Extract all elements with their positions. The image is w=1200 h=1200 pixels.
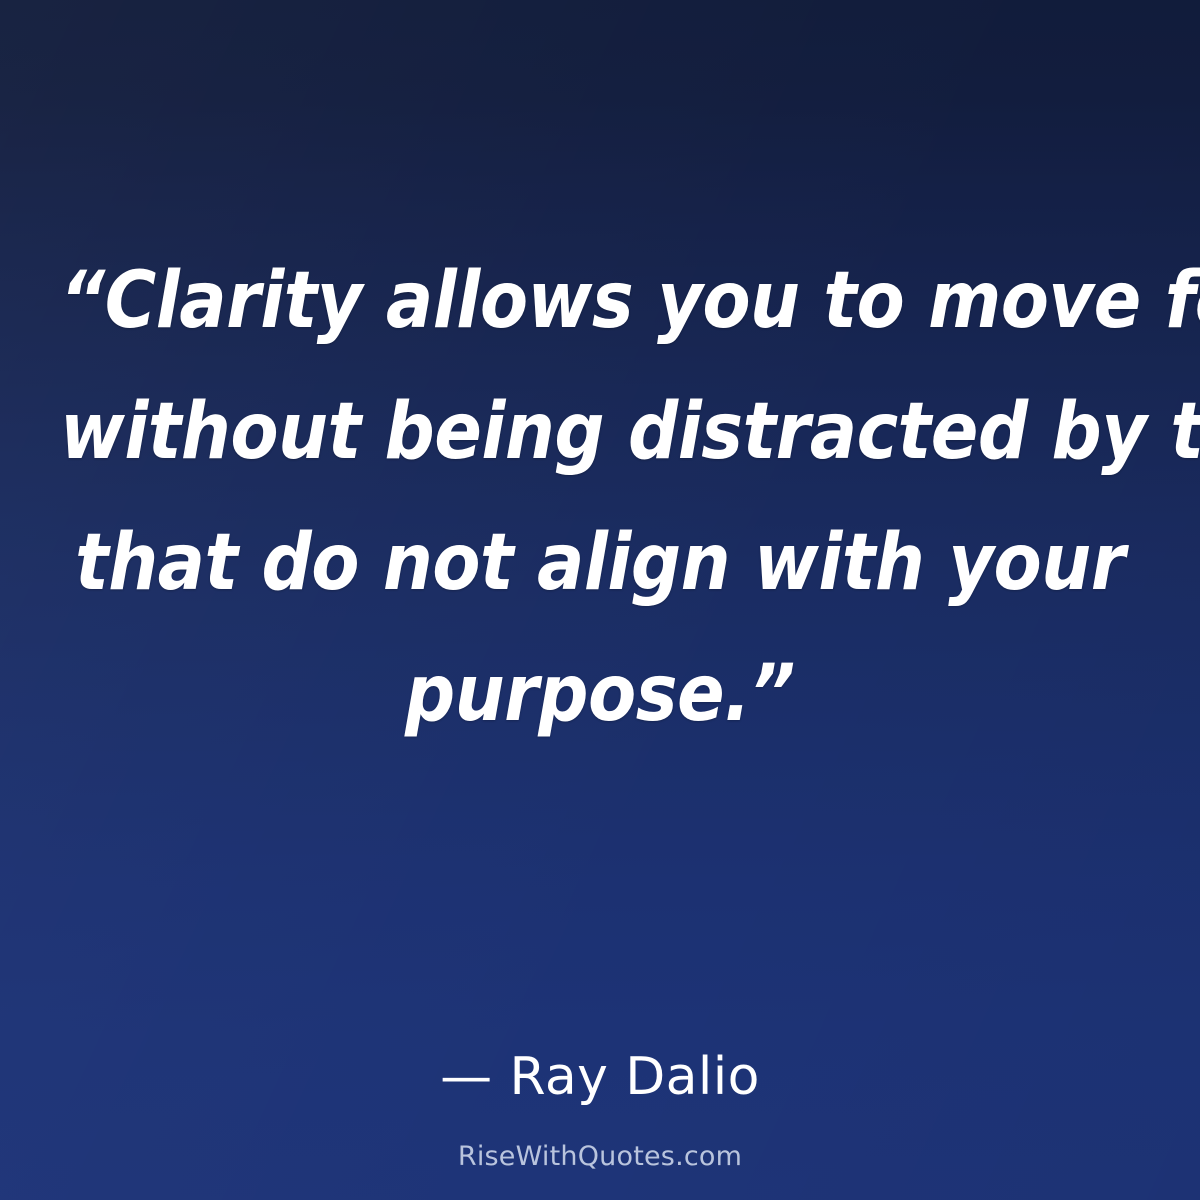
quote-line-3: that do not align with your: [60, 498, 1140, 629]
quote-attribution: — Ray Dalio: [0, 1046, 1200, 1108]
quote-card: “Clarity allows you to move forward with…: [0, 0, 1200, 1200]
quote-text-block: “Clarity allows you to move forward with…: [60, 236, 1140, 760]
quote-line-2: without being distracted by things: [60, 367, 1140, 498]
footer-brand: RiseWithQuotes.com: [0, 1140, 1200, 1174]
quote-line-1: “Clarity allows you to move forward: [60, 236, 1140, 367]
quote-line-4: purpose.”: [60, 629, 1140, 760]
